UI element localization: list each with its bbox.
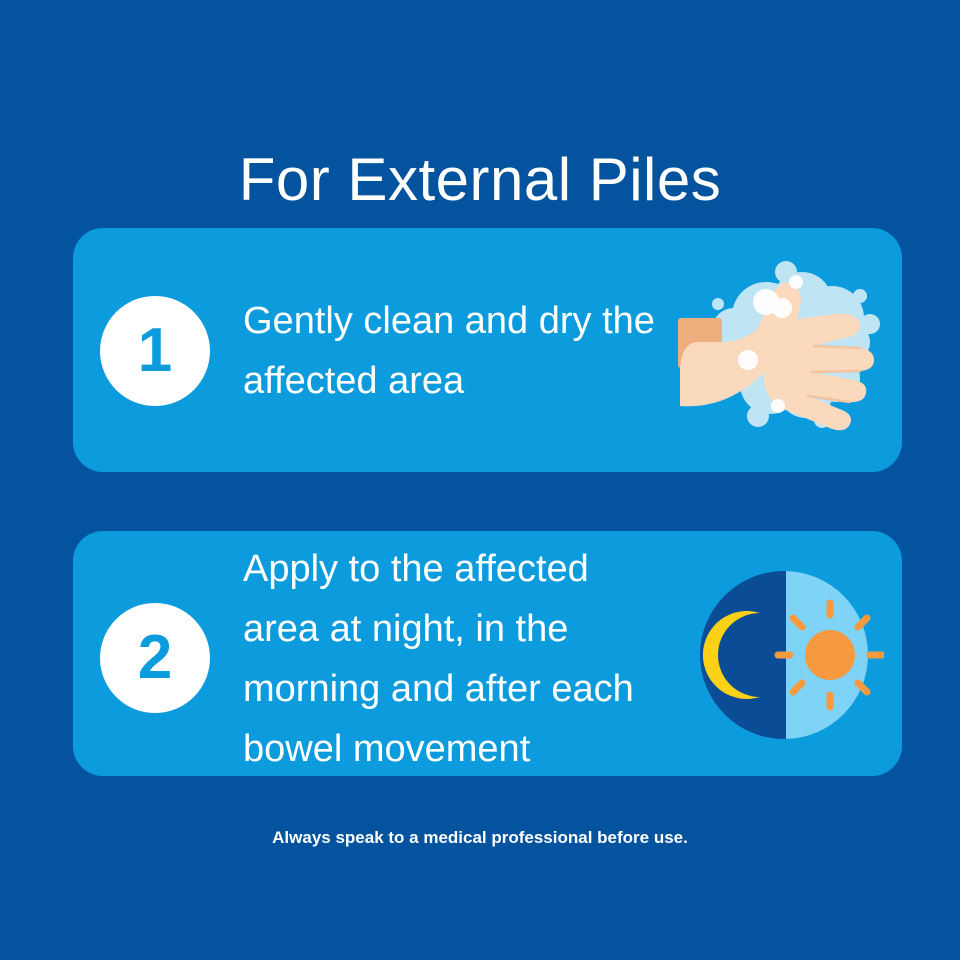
step-text-1: Gently clean and dry the affected area <box>243 291 663 411</box>
step-text-2: Apply to the affected area at night, in … <box>243 539 663 779</box>
step-card-1: 1 Gently clean and dry the affected area <box>73 228 902 472</box>
footer-disclaimer: Always speak to a medical professional b… <box>0 826 960 850</box>
infographic-canvas: For External Piles 1 Gently clean and dr… <box>0 0 960 960</box>
step-card-2: 2 Apply to the affected area at night, i… <box>73 531 902 776</box>
step-number-badge-1: 1 <box>100 296 210 406</box>
day-night-icon <box>684 555 884 755</box>
step-number-badge-2: 2 <box>100 603 210 713</box>
washing-hands-icon <box>674 256 894 436</box>
page-title: For External Piles <box>0 144 960 216</box>
